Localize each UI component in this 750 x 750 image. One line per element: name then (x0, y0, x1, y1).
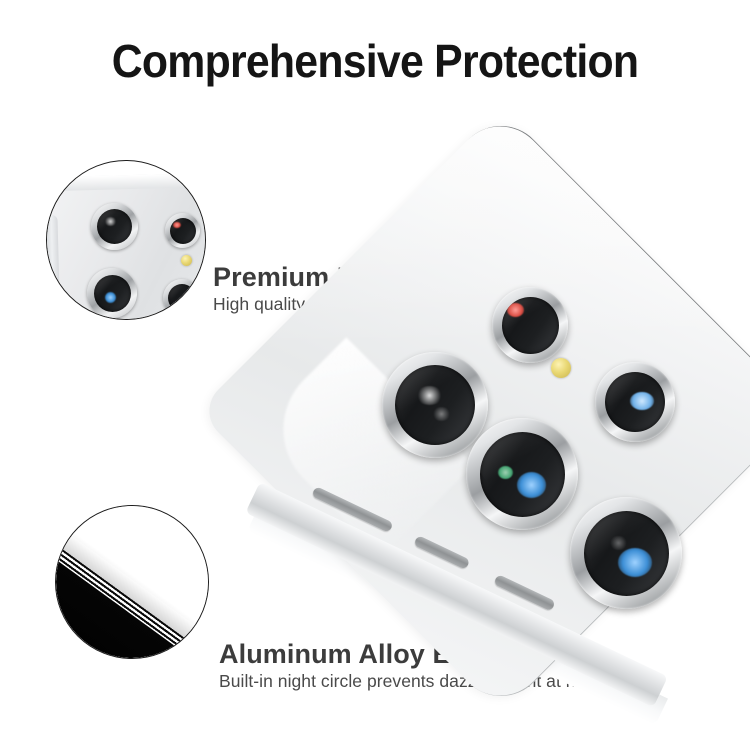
lens-blue-reflection (630, 392, 654, 410)
lens-highlight (416, 386, 443, 405)
lens-highlight-secondary (432, 407, 451, 421)
alloy-edge-macro-art (56, 506, 208, 658)
wide-lens-ring (91, 203, 138, 250)
lens-blue-reflection (105, 292, 116, 303)
inset-alloy-edge-macro (55, 505, 209, 659)
lens-highlight (609, 536, 628, 550)
lens-glass (605, 372, 665, 432)
lens-blue-reflection (180, 296, 190, 305)
lens-red-reflection (507, 303, 524, 317)
periscope-lens-ring (595, 362, 675, 442)
lens-glass (168, 284, 196, 312)
ultrawide-lens-ring (87, 268, 137, 318)
ultrawide-lens-ring (466, 418, 578, 530)
lens-red-reflection (173, 222, 181, 228)
led-flash-icon (181, 255, 192, 266)
lens-glass (170, 218, 196, 244)
wide-lens-ring (382, 352, 488, 458)
inset-camera-module-closeup (46, 160, 206, 320)
led-flash-icon (551, 358, 571, 378)
lens-highlight (104, 217, 117, 226)
lens-blue-reflection (618, 548, 652, 577)
product-feature-image: Comprehensive Protection (0, 0, 750, 750)
lens-blue-reflection (517, 472, 546, 498)
telephoto-lens-ring (492, 287, 568, 363)
inset-top-content (47, 161, 205, 319)
lens-green-reflection (498, 466, 513, 480)
lens-glass (584, 511, 669, 596)
lens-glass (502, 297, 559, 354)
lens-glass (480, 432, 565, 517)
inset-bottom-content (56, 506, 208, 658)
product-photo-smartphone (268, 186, 750, 746)
lens-glass (395, 365, 475, 445)
telephoto-lens-ring (165, 213, 200, 248)
lens-glass (94, 275, 131, 312)
lens-glass (97, 209, 132, 244)
main-lens-ring (570, 497, 682, 609)
periscope-lens-ring (163, 279, 201, 317)
page-title: Comprehensive Protection (26, 34, 724, 88)
